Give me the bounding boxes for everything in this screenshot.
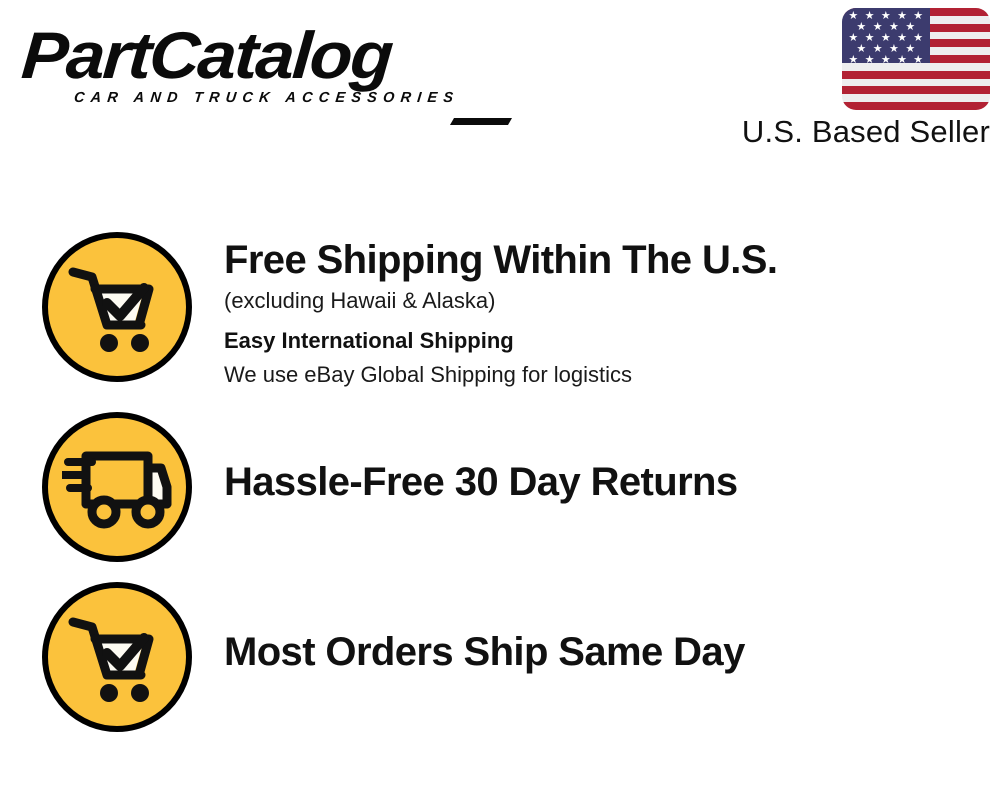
brand-wordmark: PartCatalog [20,22,523,88]
feature-row: Free Shipping Within The U.S. (excluding… [0,232,1000,410]
flag-canton: ★★★★★ ★★★★ ★★★★★ ★★★★ ★★★★★ [842,8,930,63]
feature-text-block: Most Orders Ship Same Day [224,580,745,676]
shopping-cart-check-icon [42,232,192,382]
flag-star-row: ★★★★★ [842,11,930,22]
feature-title: Most Orders Ship Same Day [224,628,745,676]
us-based-seller-badge: ★★★★★ ★★★★ ★★★★★ ★★★★ ★★★★★ U.S. Based S… [700,8,990,150]
feature-title: Hassle-Free 30 Day Returns [224,458,738,506]
us-flag-icon: ★★★★★ ★★★★ ★★★★★ ★★★★ ★★★★★ [842,8,990,110]
us-based-seller-label: U.S. Based Seller [742,114,990,150]
brand-logo[interactable]: PartCatalog CAR AND TRUCK ACCESSORIES [22,22,492,106]
feature-detail: We use eBay Global Shipping for logistic… [224,358,777,392]
brand-tagline: CAR AND TRUCK ACCESSORIES [73,90,493,106]
feature-text-block: Free Shipping Within The U.S. (excluding… [224,232,777,392]
brand-underline-accent [450,118,512,125]
delivery-truck-icon [42,412,192,562]
feature-list: Free Shipping Within The U.S. (excluding… [0,232,1000,750]
feature-note: (excluding Hawaii & Alaska) [224,284,777,318]
feature-row: Most Orders Ship Same Day [0,580,1000,750]
feature-title: Free Shipping Within The U.S. [224,236,777,284]
feature-row: Hassle-Free 30 Day Returns [0,410,1000,580]
flag-star-row: ★★★★★ [842,33,930,44]
page-header: PartCatalog CAR AND TRUCK ACCESSORIES [0,0,1000,175]
feature-text-block: Hassle-Free 30 Day Returns [224,410,738,506]
flag-star-row: ★★★★★ [842,55,930,66]
shopping-cart-check-icon [42,582,192,732]
feature-subtitle: Easy International Shipping [224,324,777,358]
